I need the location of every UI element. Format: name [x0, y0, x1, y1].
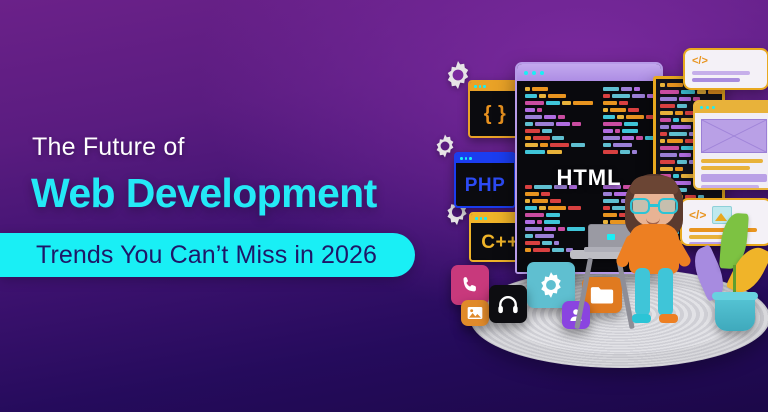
glasses-lens [658, 198, 678, 214]
text-line [692, 78, 740, 82]
code-line [525, 101, 593, 105]
pant-leg [635, 268, 650, 316]
code-line [525, 122, 593, 126]
text-block [701, 185, 759, 190]
legs [635, 268, 673, 320]
headphones-icon [489, 285, 527, 323]
code-gap [525, 157, 593, 161]
glasses-lens [630, 198, 650, 214]
window-titlebar [517, 64, 661, 81]
pant-leg [658, 268, 673, 316]
card-titlebar [695, 102, 768, 113]
phone-icon [451, 265, 489, 305]
code-line [525, 206, 593, 210]
subtitle-highlight-bar: Trends You Can’t Miss in 2026 [0, 233, 415, 277]
kicker-text: The Future of [32, 133, 185, 162]
code-line [525, 150, 593, 154]
code-line [525, 234, 593, 238]
card-content: </> [685, 50, 767, 90]
code-icon: </> [692, 56, 760, 67]
php-badge-label: PHP [456, 163, 514, 208]
page-title: Web Development [31, 170, 377, 217]
wireframe-window-card [693, 100, 768, 190]
jacket [629, 224, 679, 274]
badge-titlebar [456, 154, 514, 163]
code-line [660, 90, 725, 94]
card-lines [701, 159, 767, 190]
potted-plant [697, 213, 768, 331]
code-line [525, 108, 593, 112]
promo-banner: The Future of Web Development Trends You… [0, 0, 768, 412]
text-line [701, 166, 750, 170]
shoe [659, 314, 678, 323]
image-placeholder-icon [701, 119, 767, 153]
code-line [525, 136, 593, 140]
code-line [525, 220, 593, 224]
code-line [525, 227, 593, 231]
hair-bangs [630, 176, 678, 194]
badge-titlebar [470, 82, 520, 91]
braces-badge: { } [468, 80, 522, 138]
code-line [525, 129, 593, 133]
code-line [525, 87, 593, 91]
text-line [692, 71, 750, 75]
php-badge: PHP [454, 152, 516, 208]
code-line [525, 199, 593, 203]
plant-pot [715, 295, 755, 331]
image-icon [461, 300, 489, 326]
code-line [525, 241, 593, 245]
code-line [525, 143, 593, 147]
code-snippet-card: </> [683, 48, 768, 90]
desk-leg [574, 258, 593, 330]
code-line [525, 192, 593, 196]
hero-illustration: { } PHP C++ HTML </> [415, 0, 768, 412]
code-line [525, 213, 593, 217]
text-block [701, 174, 767, 182]
subtitle-text: Trends You Can’t Miss in 2026 [36, 233, 377, 277]
developer-character [615, 168, 693, 328]
text-line [701, 159, 763, 163]
shoe [632, 314, 651, 323]
glasses-bridge [650, 204, 658, 207]
braces-badge-label: { } [470, 91, 520, 138]
code-line [525, 94, 593, 98]
code-line [525, 115, 593, 119]
headline-block: The Future of Web Development Trends You… [0, 0, 430, 412]
glasses-icon [629, 198, 679, 214]
